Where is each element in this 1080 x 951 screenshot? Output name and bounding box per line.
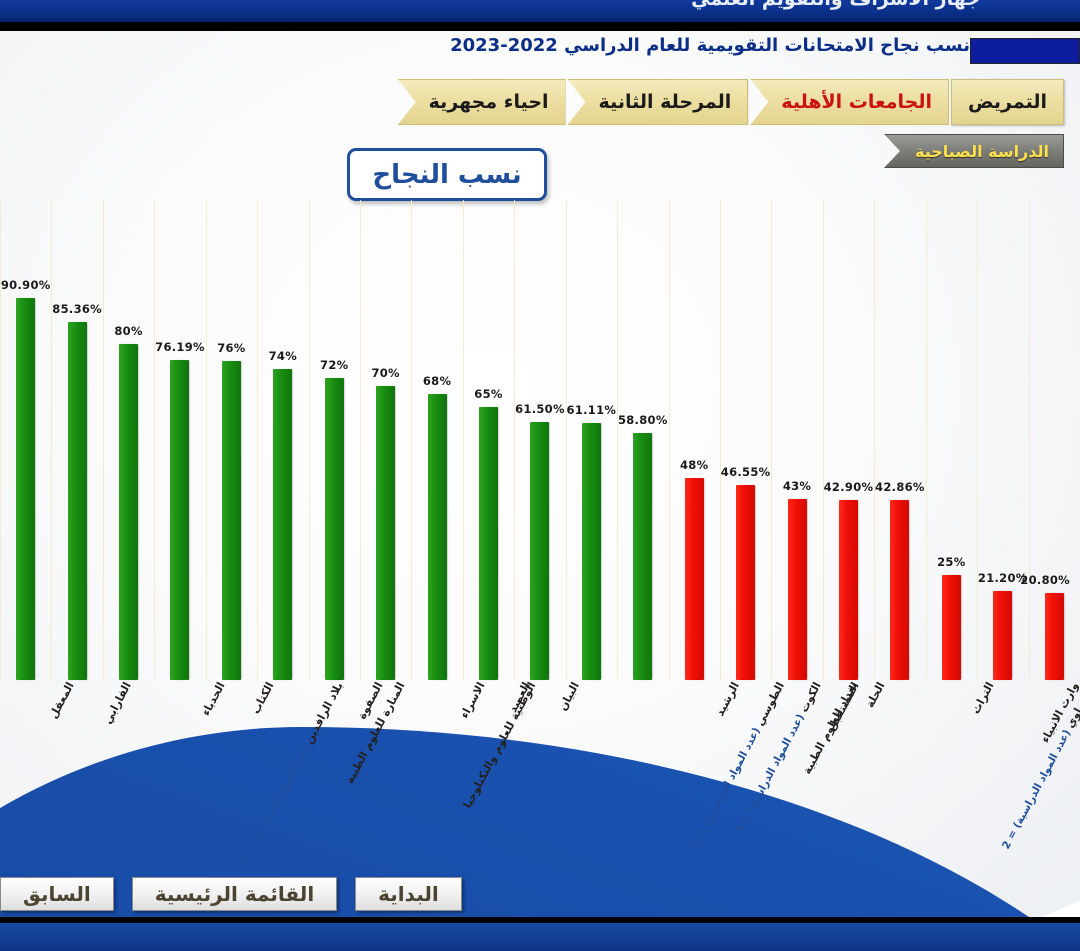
chart-bar — [839, 500, 858, 680]
chart-bar — [325, 378, 344, 680]
chart-bar — [530, 422, 549, 680]
chart-x-axis-labels: المعقلالفارابيبلاد الرافدين (عدد المواد … — [0, 680, 1080, 870]
breadcrumb-label: التمريض — [968, 91, 1047, 113]
chart-bar — [685, 478, 704, 680]
chart-bar — [16, 298, 35, 680]
x-label-name: الكوت — [797, 680, 824, 715]
chart-bar-value-label: 43% — [783, 479, 811, 493]
chart-bar-value-label: 65% — [474, 387, 502, 401]
chart-bar-cell: 76% — [206, 200, 257, 680]
chart-heading-box: نسب النجاح — [347, 148, 547, 201]
chart-x-axis-label: التراث — [969, 680, 996, 716]
title-bar: نسب نجاح الامتحانات التقويمية للعام الدر… — [100, 35, 1080, 69]
chart-x-axis-label: المعقل — [47, 680, 77, 721]
chart-bar-cell: 20.80% — [1028, 200, 1079, 680]
chart-bar-cell: 80% — [103, 200, 154, 680]
chart-bar-value-label: 80% — [114, 324, 142, 338]
chart-bar — [942, 575, 961, 680]
chart-bar-cell: 21.20% — [977, 200, 1028, 680]
chart-bar-cell: 61.50% — [514, 200, 565, 680]
chart-bar-cell: 61.11% — [566, 200, 617, 680]
chart-x-axis-label: البيان — [556, 680, 582, 713]
x-label-name: الكتاب — [249, 680, 276, 716]
chart-bar-cell: 48% — [668, 200, 719, 680]
status-badge-study-shift[interactable]: الدراسة الصباحية — [884, 134, 1064, 168]
chart-bar-cell: 43% — [771, 200, 822, 680]
chart-bar — [170, 360, 189, 680]
chart-bar-value-label: 68% — [423, 374, 451, 388]
chart-bar-cell: 25% — [926, 200, 977, 680]
chart-bar-value-label: 85.36% — [52, 302, 102, 316]
chart-bar-value-label: 76% — [217, 341, 245, 355]
chart-x-axis-label: الحلة — [863, 680, 887, 710]
x-label-name: الاسراء — [458, 680, 488, 721]
chart-bar-cell: 65% — [463, 200, 514, 680]
chart-bar — [633, 433, 652, 680]
x-label-name: الحلة — [863, 680, 887, 710]
chart-x-axis-label: الاسراء — [458, 680, 488, 721]
chart-bar — [273, 369, 292, 680]
chart-bars-container: 90.90%85.36%80%76.19%76%74%72%70%68%65%6… — [0, 200, 1080, 680]
chart-bar — [428, 394, 447, 680]
x-label-name: البيان — [556, 680, 582, 713]
breadcrumb-item-subject[interactable]: احياء مجهرية — [398, 79, 566, 125]
slide-canvas: نسب نجاح الامتحانات التقويمية للعام الدر… — [0, 31, 1080, 917]
x-label-name: الفارابي — [101, 680, 134, 726]
x-label-subject-count-note: (عدد المواد الدراسية) = 2 — [238, 741, 313, 868]
chart-bar-value-label: 70% — [371, 366, 399, 380]
chart-bar — [788, 499, 807, 680]
chart-bar-cell: 68% — [411, 200, 462, 680]
chart-bar — [993, 591, 1012, 680]
chart-bar — [582, 423, 601, 680]
top-black-divider — [0, 22, 1080, 31]
chart-x-axis-label: الحدباء — [199, 680, 227, 718]
chart-bar — [68, 322, 87, 681]
x-label-name: التراث — [969, 680, 996, 716]
chart-bar-cell: 46.55% — [720, 200, 771, 680]
chart-bar — [479, 407, 498, 680]
chart-bar-cell: 70% — [360, 200, 411, 680]
x-label-subject-count-note: (عدد المواد الدراسية) = 2 — [690, 722, 765, 849]
breadcrumb-item-stage[interactable]: المرحلة الثانية — [568, 79, 749, 125]
chart-bar-value-label: 20.80% — [1020, 573, 1070, 587]
page-title: نسب نجاح الامتحانات التقويمية للعام الدر… — [450, 35, 970, 56]
chart-bar-value-label: 76.19% — [155, 340, 205, 354]
chart-bar-cell: 42.86% — [874, 200, 925, 680]
x-label-subject-count-note: (عدد المواد الدراسية) = 3 — [734, 709, 809, 836]
chart-x-axis-label: الرشيد — [714, 680, 743, 718]
footer-text-wrap: جهاز الاشراف والتقويم العلمي — [0, 880, 1080, 951]
chart-bar-cell: 74% — [257, 200, 308, 680]
chart-bar-cell: 72% — [309, 200, 360, 680]
shift-badge-label: الدراسة الصباحية — [915, 142, 1049, 161]
title-blue-block — [970, 38, 1080, 64]
breadcrumb-label: احياء مجهرية — [429, 91, 549, 113]
chart-bar — [376, 386, 395, 680]
chart-bar — [890, 500, 909, 680]
breadcrumb-item-college[interactable]: التمريض — [951, 79, 1064, 125]
breadcrumb-item-university-type[interactable]: الجامعات الأهلية — [750, 79, 949, 125]
breadcrumb[interactable]: التمريض الجامعات الأهلية المرحلة الثانية… — [398, 79, 1064, 125]
chart-bar-cell: 42.90% — [823, 200, 874, 680]
chart-bar-value-label: 90.90% — [1, 278, 51, 292]
x-label-name: الرشيد — [714, 680, 743, 718]
chart-heading-label: نسب النجاح — [372, 160, 521, 190]
breadcrumb-label: الجامعات الأهلية — [781, 91, 932, 113]
chart-bar-value-label: 74% — [269, 349, 297, 363]
chart-bar-value-label: 25% — [937, 555, 965, 569]
chart-bar — [222, 361, 241, 680]
chart-bar-value-label: 42.90% — [824, 480, 874, 494]
chart-bar — [736, 485, 755, 681]
chart-x-axis-label: الكتاب — [249, 680, 276, 716]
x-label-subject-count-note: (عدد المواد الدراسية) = 2 — [1000, 725, 1075, 852]
top-strip-cut-text: جهاز الاشراف والتقويم العلمي — [691, 0, 980, 10]
x-label-name: بلاد الرافدين — [302, 680, 345, 746]
top-cut-strip: جهاز الاشراف والتقويم العلمي — [0, 0, 1080, 22]
chart-bar-value-label: 58.80% — [618, 413, 668, 427]
chart-bar-cell: 85.36% — [51, 200, 102, 680]
x-label-name: الطوسي — [754, 680, 788, 728]
chart-x-axis-label: الفارابي — [101, 680, 134, 726]
chart-bar-cell: 58.80% — [617, 200, 668, 680]
chart-bar-value-label: 42.86% — [875, 480, 925, 494]
x-label-name: الحدباء — [199, 680, 227, 718]
chart-bar-value-label: 46.55% — [721, 465, 771, 479]
chart-bar — [119, 344, 138, 680]
chart-bar-value-label: 48% — [680, 458, 708, 472]
chart-bar-value-label: 61.11% — [567, 403, 617, 417]
x-label-name: المعقل — [47, 680, 77, 721]
chart-bar-value-label: 72% — [320, 358, 348, 372]
chart-bar-cell: 76.19% — [154, 200, 205, 680]
chart-bar-cell: 90.90% — [0, 200, 51, 680]
chart-bar — [1045, 593, 1064, 680]
breadcrumb-label: المرحلة الثانية — [599, 91, 732, 113]
chart-plot-area: 90.90%85.36%80%76.19%76%74%72%70%68%65%6… — [0, 200, 1080, 680]
chart-bar-value-label: 61.50% — [515, 402, 565, 416]
